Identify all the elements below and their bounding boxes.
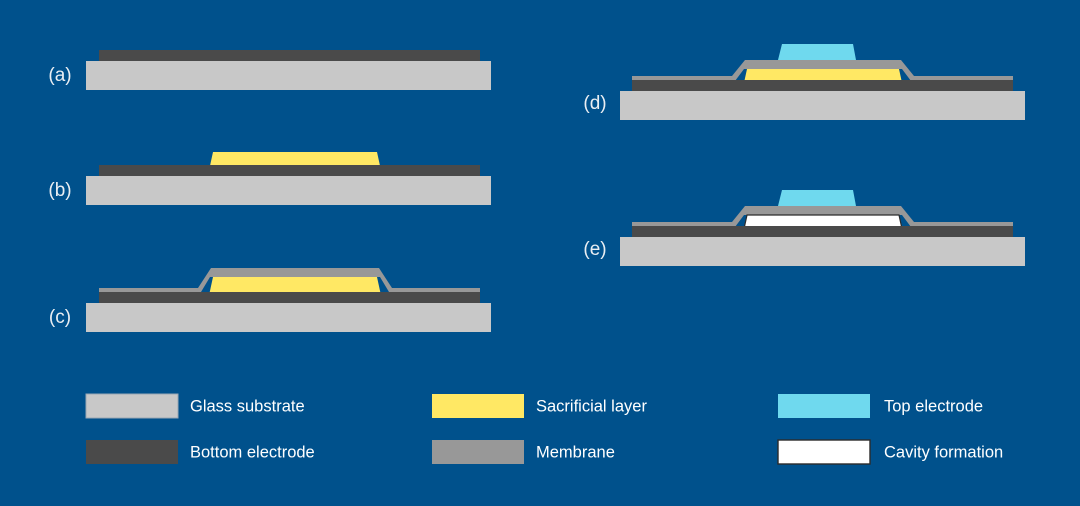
panel-d-top-electrode xyxy=(778,44,856,60)
panel-e-label: (e) xyxy=(583,239,606,260)
process-flow-figure: (a) (b) (c) (d) (e) xyxy=(0,0,1080,506)
panel-d-glass-substrate xyxy=(620,91,1025,120)
panel-a-glass-substrate xyxy=(86,61,491,90)
panel-e-top-electrode xyxy=(778,190,856,206)
legend-label-sacrificial-layer: Sacrificial layer xyxy=(536,397,647,415)
panel-c-label: (c) xyxy=(49,307,71,328)
legend-item-sacrificial-layer: Sacrificial layer xyxy=(432,394,647,418)
legend-item-bottom-electrode: Bottom electrode xyxy=(86,440,315,464)
legend-label-bottom-electrode: Bottom electrode xyxy=(190,443,315,461)
legend-label-cavity-formation: Cavity formation xyxy=(884,443,1003,461)
legend-label-top-electrode: Top electrode xyxy=(884,397,983,415)
panel-d-bottom-electrode xyxy=(632,80,1013,91)
legend-swatch-glass-substrate xyxy=(86,394,178,418)
panel-a-bottom-electrode xyxy=(99,50,480,61)
panel-e-glass-substrate xyxy=(620,237,1025,266)
panel-c-bottom-electrode xyxy=(99,292,480,303)
legend-label-membrane: Membrane xyxy=(536,443,615,461)
legend-item-cavity-formation: Cavity formation xyxy=(778,440,1003,464)
panel-e-bottom-electrode xyxy=(632,226,1013,237)
panel-a: (a) xyxy=(48,50,491,90)
legend-swatch-sacrificial-layer xyxy=(432,394,524,418)
panel-c-glass-substrate xyxy=(86,303,491,332)
legend-swatch-cavity-formation xyxy=(778,440,870,464)
panel-d-label: (d) xyxy=(583,93,606,114)
panel-a-label: (a) xyxy=(48,65,71,86)
legend-label-glass-substrate: Glass substrate xyxy=(190,397,305,415)
legend-item-glass-substrate: Glass substrate xyxy=(86,394,305,418)
legend-swatch-bottom-electrode xyxy=(86,440,178,464)
panel-b-glass-substrate xyxy=(86,176,491,205)
legend-swatch-membrane xyxy=(432,440,524,464)
panel-b-label: (b) xyxy=(48,180,71,201)
legend-swatch-top-electrode xyxy=(778,394,870,418)
legend-item-membrane: Membrane xyxy=(432,440,615,464)
panel-b-bottom-electrode xyxy=(99,165,480,176)
